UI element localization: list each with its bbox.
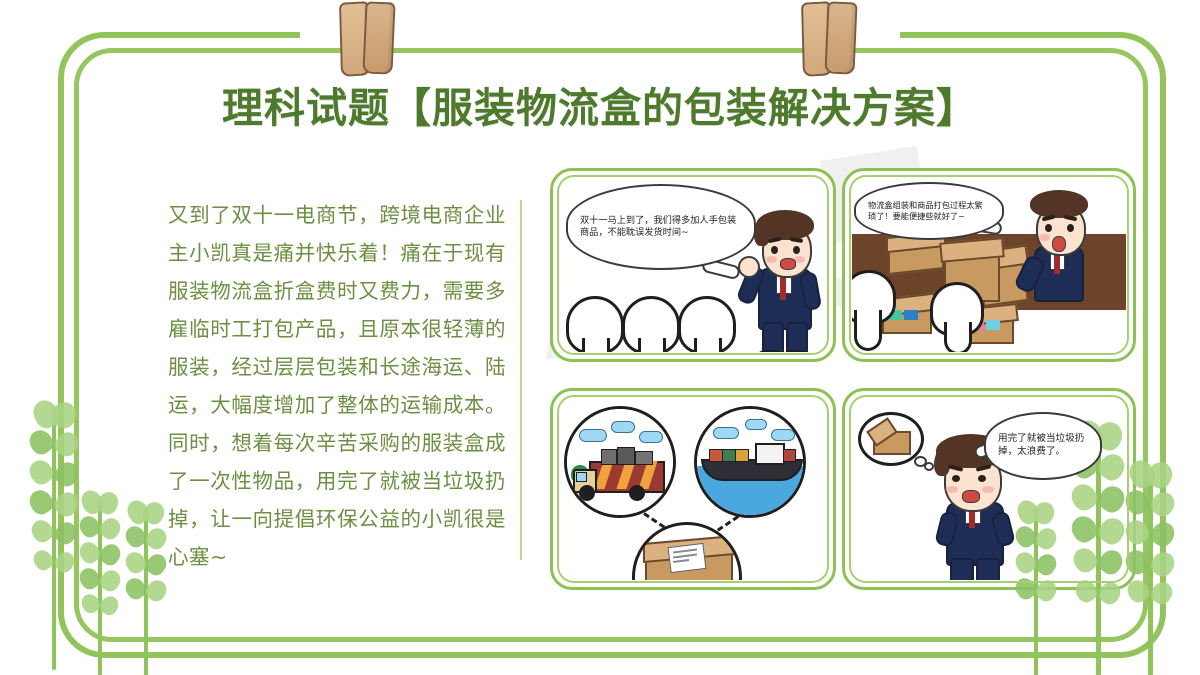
package-circle <box>632 522 742 580</box>
clothing-item <box>986 320 1000 330</box>
cloud-icon <box>713 427 739 439</box>
manager-eye <box>771 246 778 254</box>
manager-leg <box>762 322 784 352</box>
comic-panel-1: 双十一马上到了，我们得多加人手包装商品，不能耽误发货时间~ <box>550 168 836 362</box>
ship-container <box>783 449 796 462</box>
slide-canvas: A25 理科试题【服装物流盒的包装解决方案】 又到了双十一电商节，跨境电商企业主… <box>0 0 1200 675</box>
sad-eye <box>952 475 960 482</box>
clothing-item <box>904 310 918 320</box>
employee-neck-silhouette <box>638 338 666 352</box>
comic-panel-3 <box>550 388 836 590</box>
manager-eye <box>793 246 800 254</box>
manager-cheek <box>766 256 777 263</box>
worker-neck-silhouette <box>944 322 972 352</box>
clip-jaw-right <box>362 1 395 74</box>
cloud-icon <box>771 429 795 441</box>
truck-wheel <box>629 485 645 501</box>
truck-wheel <box>579 485 595 501</box>
packer-character <box>1002 188 1112 308</box>
sad-leg <box>976 558 1000 580</box>
panel-1-scene: 双十一马上到了，我们得多加人手包装商品，不能耽误发货时间~ <box>560 178 826 352</box>
sad-cheek <box>982 486 994 493</box>
ship-container <box>735 449 749 462</box>
vertical-divider <box>520 200 522 560</box>
panel-1-speech-bubble: 双十一马上到了，我们得多加人手包装商品，不能耽误发货时间~ <box>566 184 756 270</box>
clothespin-left-icon <box>338 2 394 72</box>
sad-cheek <box>946 486 958 493</box>
sad-hair-side <box>934 448 950 476</box>
panel-4-speech-text: 用完了就被当垃圾扔掉，太浪费了。 <box>998 433 1088 458</box>
ship-bridge <box>755 443 785 465</box>
comic-panel-2: 物流盒组装和商品打包过程太繁琐了！要能便捷些就好了~ <box>842 168 1136 362</box>
worker-neck-silhouette <box>854 310 882 351</box>
packer-hair <box>1030 190 1088 218</box>
manager-shoe <box>784 350 808 352</box>
sprig-stem <box>52 422 56 670</box>
sad-mouth <box>962 490 980 503</box>
truck-circle <box>564 406 676 518</box>
truck-window <box>576 472 587 482</box>
packer-mouth-open <box>1052 236 1066 252</box>
cargo-container <box>601 449 617 465</box>
panel-2-speech-text: 物流盒组装和商品打包过程太繁琐了！要能便捷些就好了~ <box>868 200 990 222</box>
panel-2-scene: 物流盒组装和商品打包过程太繁琐了！要能便捷些就好了~ <box>852 178 1126 352</box>
packer-eye <box>1045 224 1052 232</box>
ship-container <box>722 449 736 462</box>
panel-1-speech-text: 双十一马上到了，我们得多加人手包装商品，不能耽误发货时间~ <box>580 215 742 239</box>
cloud-icon <box>745 419 767 430</box>
ship-container <box>709 449 723 462</box>
panel-2-speech-bubble: 物流盒组装和商品打包过程太繁琐了！要能便捷些就好了~ <box>854 182 1004 240</box>
panel-4-speech-bubble: 用完了就被当垃圾扔掉，太浪费了。 <box>984 412 1102 480</box>
cloud-icon <box>579 429 607 442</box>
cargo-container <box>635 451 653 465</box>
cargo-container <box>617 447 635 465</box>
page-title: 理科试题【服装物流盒的包装解决方案】 <box>0 74 1200 134</box>
sad-leg <box>950 558 974 580</box>
employee-neck-silhouette <box>694 338 722 352</box>
employee-neck-silhouette <box>582 338 610 352</box>
manager-hand <box>738 256 760 278</box>
story-paragraph: 又到了双十一电商节，跨境电商企业主小凯真是痛并快乐着！痛在于现有服装物流盒折盒费… <box>168 196 506 576</box>
clip-jaw-right <box>824 1 857 74</box>
packer-cheek <box>1039 234 1050 241</box>
packer-eye <box>1067 224 1074 232</box>
sad-eye <box>978 475 986 482</box>
manager-mouth <box>780 258 796 270</box>
cloud-icon <box>639 431 663 443</box>
panel-3-scene <box>560 398 826 580</box>
manager-leg <box>786 322 808 352</box>
ship-hull <box>701 459 803 481</box>
ship-circle <box>694 406 806 518</box>
clothespin-right-icon <box>800 2 856 72</box>
leaf-sprig-left-3 <box>118 500 178 675</box>
leaf-sprig-right-3 <box>1118 460 1188 675</box>
cloud-icon <box>611 421 635 433</box>
manager-shoe <box>758 350 782 352</box>
